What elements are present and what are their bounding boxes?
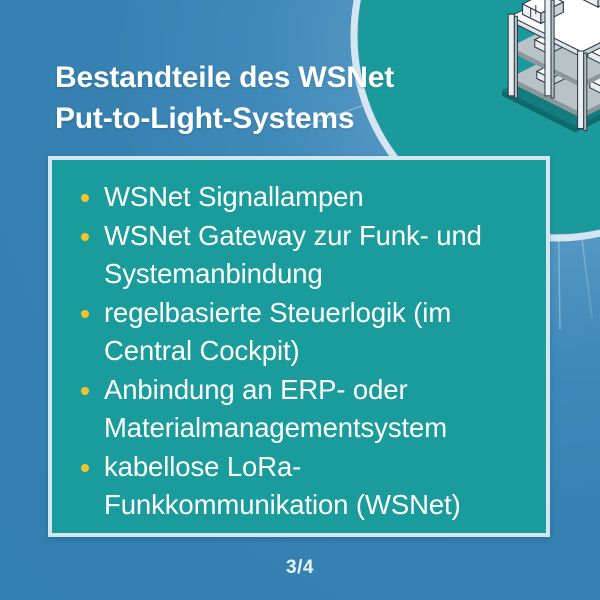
warehouse-shelving-icon	[502, 0, 600, 133]
bullet-dot-icon	[81, 194, 89, 202]
slide-title: Bestandteile des WSNet Put-to-Light-Syst…	[55, 57, 485, 139]
list-item-label: WSNet Gateway zur Funk- und Systemanbind…	[104, 217, 540, 293]
slide-canvas: Bestandteile des WSNet Put-to-Light-Syst…	[0, 0, 600, 600]
content-panel: WSNet Signallampen WSNet Gateway zur Fun…	[48, 156, 550, 537]
title-line-1: Bestandteile des WSNet	[55, 57, 485, 98]
list-item-label: Anbindung an ERP- oder Materialmanagemen…	[104, 371, 540, 447]
list-item-label: regelbasierte Steuerlogik (im Central Co…	[104, 294, 540, 370]
list-item: kabellose LoRa-Funkkommunikation (WSNet)	[74, 448, 540, 524]
list-item: regelbasierte Steuerlogik (im Central Co…	[74, 294, 540, 370]
bullet-list: WSNet Signallampen WSNet Gateway zur Fun…	[74, 178, 540, 525]
bullet-dot-icon	[81, 464, 89, 472]
list-item-label: kabellose LoRa-Funkkommunikation (WSNet)	[104, 448, 540, 524]
bullet-dot-icon	[81, 387, 89, 395]
title-line-2: Put-to-Light-Systems	[55, 98, 485, 139]
list-item-label: WSNet Signallampen	[104, 178, 540, 216]
bullet-dot-icon	[81, 310, 89, 318]
list-item: Anbindung an ERP- oder Materialmanagemen…	[74, 371, 540, 447]
bullet-dot-icon	[81, 233, 89, 241]
list-item: WSNet Signallampen	[74, 178, 540, 216]
page-indicator: 3/4	[0, 557, 600, 579]
list-item: WSNet Gateway zur Funk- und Systemanbind…	[74, 217, 540, 293]
